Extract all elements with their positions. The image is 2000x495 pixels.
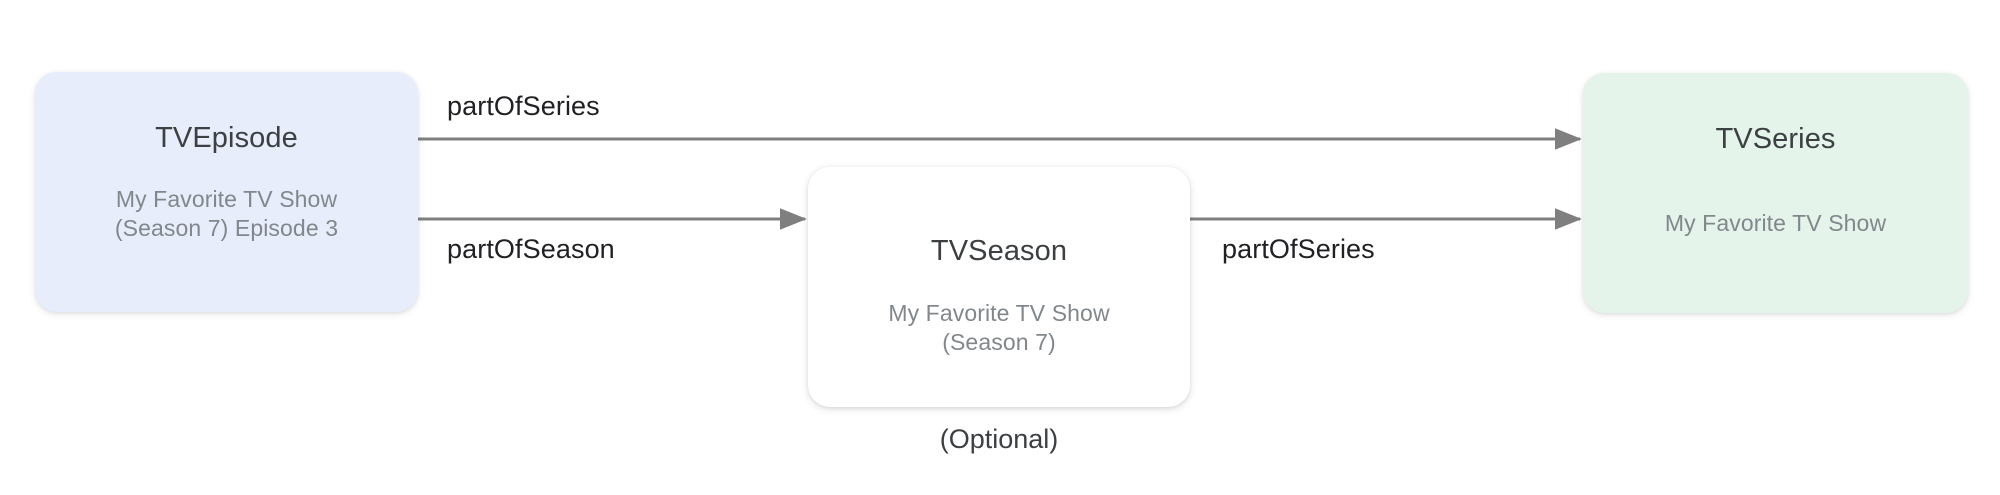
- node-tvseason-optional-caption: (Optional): [808, 424, 1190, 455]
- node-tvepisode[interactable]: TVEpisode My Favorite TV Show (Season 7)…: [35, 72, 418, 312]
- diagram-canvas: TVEpisode My Favorite TV Show (Season 7)…: [0, 0, 2000, 495]
- edge-label-episode-to-season: partOfSeason: [447, 234, 615, 265]
- node-tvepisode-title: TVEpisode: [155, 124, 298, 153]
- node-tvepisode-subtitle: My Favorite TV Show (Season 7) Episode 3: [115, 185, 338, 244]
- edge-label-season-to-series: partOfSeries: [1222, 234, 1375, 265]
- node-tvseason-subtitle: My Favorite TV Show (Season 7): [888, 299, 1109, 358]
- node-tvseason-title: TVSeason: [931, 237, 1067, 266]
- node-tvseason-subtitle-line2: (Season 7): [888, 328, 1109, 357]
- node-tvseries-title: TVSeries: [1715, 125, 1835, 154]
- node-tvseason-subtitle-line1: My Favorite TV Show: [888, 299, 1109, 328]
- node-tvseries-subtitle-line1: My Favorite TV Show: [1665, 209, 1886, 238]
- node-tvepisode-subtitle-line1: My Favorite TV Show: [115, 185, 338, 214]
- node-tvseries[interactable]: TVSeries My Favorite TV Show: [1583, 73, 1968, 313]
- node-tvseries-subtitle: My Favorite TV Show: [1665, 209, 1886, 238]
- node-tvepisode-subtitle-line2: (Season 7) Episode 3: [115, 214, 338, 243]
- node-tvseason[interactable]: TVSeason My Favorite TV Show (Season 7): [808, 167, 1190, 407]
- edge-label-episode-to-series: partOfSeries: [447, 91, 600, 122]
